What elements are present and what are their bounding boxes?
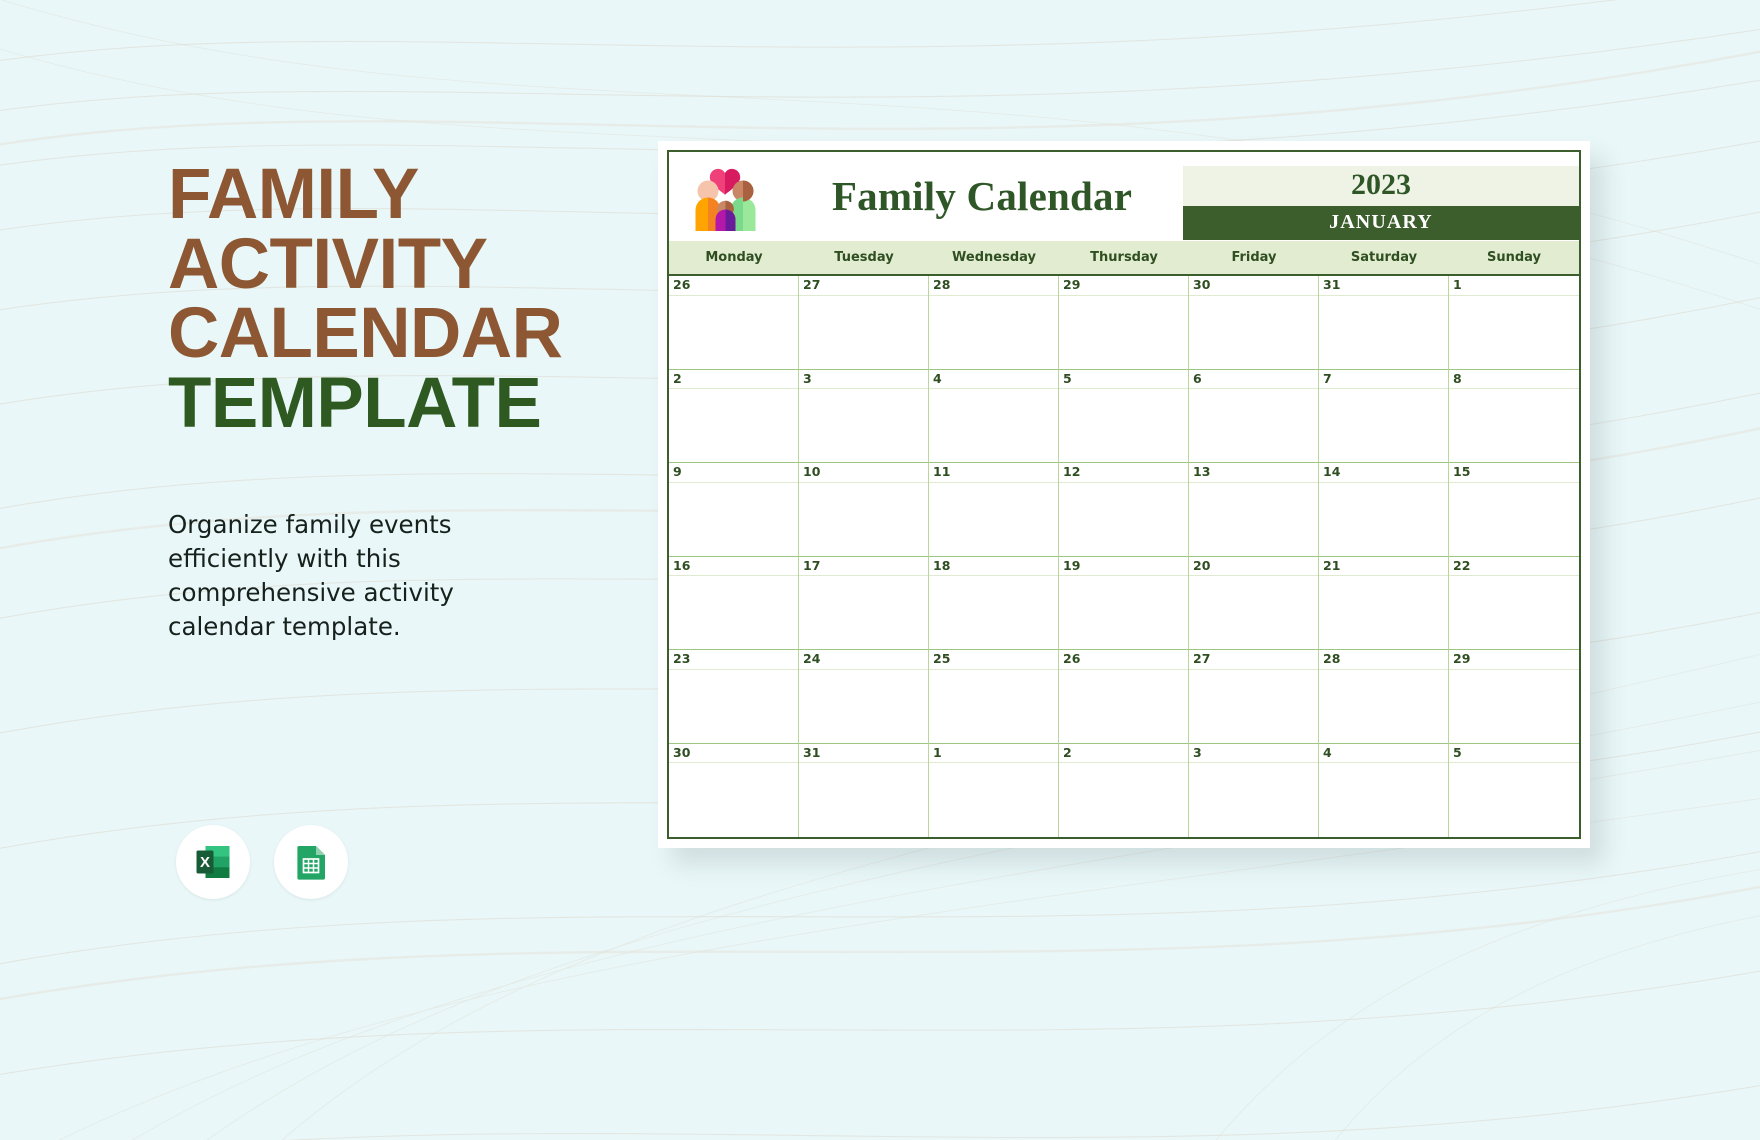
day-number: 30 xyxy=(669,744,798,764)
day-number: 13 xyxy=(1189,463,1318,483)
day-events-area[interactable] xyxy=(1449,763,1579,837)
day-number: 7 xyxy=(1319,370,1448,390)
calendar-header: Family Calendar 2023 JANUARY xyxy=(669,152,1579,240)
day-cell[interactable]: 14 xyxy=(1319,463,1449,557)
promo-description: Organize family events efficiently with … xyxy=(168,508,568,643)
day-number: 4 xyxy=(929,370,1058,390)
calendar-card: Family Calendar 2023 JANUARY Monday Tues… xyxy=(658,141,1590,848)
day-events-area[interactable] xyxy=(1319,296,1448,369)
day-events-area[interactable] xyxy=(1059,576,1188,649)
day-number: 6 xyxy=(1189,370,1318,390)
weekday-saturday: Saturday xyxy=(1319,241,1449,274)
day-events-area[interactable] xyxy=(1189,670,1318,743)
day-events-area[interactable] xyxy=(1319,763,1448,837)
day-cell[interactable]: 5 xyxy=(1449,744,1579,838)
google-sheets-badge[interactable] xyxy=(274,825,348,899)
day-events-area[interactable] xyxy=(1449,576,1579,649)
day-events-area[interactable] xyxy=(1059,296,1188,369)
day-cell[interactable]: 22 xyxy=(1449,557,1579,651)
day-cell[interactable]: 25 xyxy=(929,650,1059,744)
day-number: 1 xyxy=(929,744,1058,764)
day-number: 19 xyxy=(1059,557,1188,577)
day-number: 8 xyxy=(1449,370,1579,390)
day-cell[interactable]: 13 xyxy=(1189,463,1319,557)
day-cell[interactable]: 19 xyxy=(1059,557,1189,651)
day-number: 29 xyxy=(1059,276,1188,296)
day-cell[interactable]: 27 xyxy=(1189,650,1319,744)
day-number: 3 xyxy=(799,370,928,390)
day-cell[interactable]: 7 xyxy=(1319,370,1449,464)
title-line-3: CALENDAR xyxy=(168,299,628,369)
day-number: 10 xyxy=(799,463,928,483)
day-cell[interactable]: 31 xyxy=(799,744,929,838)
day-cell[interactable]: 29 xyxy=(1059,276,1189,370)
day-number: 15 xyxy=(1449,463,1579,483)
day-events-area[interactable] xyxy=(669,576,798,649)
google-sheets-icon xyxy=(290,841,332,883)
day-cell[interactable]: 5 xyxy=(1059,370,1189,464)
day-cell[interactable]: 2 xyxy=(1059,744,1189,838)
weekday-wednesday: Wednesday xyxy=(929,241,1059,274)
day-events-area[interactable] xyxy=(669,763,798,837)
calendar-weekday-row: Monday Tuesday Wednesday Thursday Friday… xyxy=(669,240,1579,274)
family-heart-icon xyxy=(683,160,767,232)
day-cell[interactable]: 4 xyxy=(1319,744,1449,838)
day-cell[interactable]: 3 xyxy=(1189,744,1319,838)
day-number: 27 xyxy=(799,276,928,296)
day-cell[interactable]: 2 xyxy=(669,370,799,464)
day-events-area[interactable] xyxy=(1449,389,1579,462)
calendar-title: Family Calendar xyxy=(832,172,1132,220)
day-cell[interactable]: 27 xyxy=(799,276,929,370)
day-number: 31 xyxy=(799,744,928,764)
day-events-area[interactable] xyxy=(799,670,928,743)
day-cell[interactable]: 1 xyxy=(929,744,1059,838)
day-cell[interactable]: 26 xyxy=(669,276,799,370)
calendar-period: 2023 JANUARY xyxy=(1183,152,1579,240)
day-cell[interactable]: 16 xyxy=(669,557,799,651)
day-cell[interactable]: 28 xyxy=(1319,650,1449,744)
day-cell[interactable]: 3 xyxy=(799,370,929,464)
day-number: 2 xyxy=(1059,744,1188,764)
day-cell[interactable]: 9 xyxy=(669,463,799,557)
day-cell[interactable]: 29 xyxy=(1449,650,1579,744)
day-events-area[interactable] xyxy=(1059,670,1188,743)
svg-text:X: X xyxy=(200,854,210,871)
day-cell[interactable]: 18 xyxy=(929,557,1059,651)
day-number: 3 xyxy=(1189,744,1318,764)
day-number: 30 xyxy=(1189,276,1318,296)
family-logo xyxy=(669,152,781,240)
day-events-area[interactable] xyxy=(1449,296,1579,369)
day-events-area[interactable] xyxy=(1059,389,1188,462)
day-cell[interactable]: 26 xyxy=(1059,650,1189,744)
day-number: 17 xyxy=(799,557,928,577)
page-title: FAMILY ACTIVITY CALENDAR TEMPLATE xyxy=(168,160,628,438)
day-cell[interactable]: 17 xyxy=(799,557,929,651)
title-line-2: ACTIVITY xyxy=(168,230,628,300)
day-events-area[interactable] xyxy=(1319,670,1448,743)
day-events-area[interactable] xyxy=(799,763,928,837)
day-events-area[interactable] xyxy=(1059,763,1188,837)
day-cell[interactable]: 10 xyxy=(799,463,929,557)
day-events-area[interactable] xyxy=(1319,576,1448,649)
day-number: 25 xyxy=(929,650,1058,670)
day-number: 28 xyxy=(929,276,1058,296)
day-cell[interactable]: 23 xyxy=(669,650,799,744)
day-number: 31 xyxy=(1319,276,1448,296)
day-events-area[interactable] xyxy=(1319,483,1448,556)
day-cell[interactable]: 6 xyxy=(1189,370,1319,464)
day-cell[interactable]: 20 xyxy=(1189,557,1319,651)
day-events-area[interactable] xyxy=(799,576,928,649)
weekday-tuesday: Tuesday xyxy=(799,241,929,274)
day-events-area[interactable] xyxy=(929,483,1058,556)
day-number: 29 xyxy=(1449,650,1579,670)
day-cell[interactable]: 31 xyxy=(1319,276,1449,370)
day-events-area[interactable] xyxy=(929,389,1058,462)
day-number: 2 xyxy=(669,370,798,390)
day-events-area[interactable] xyxy=(799,389,928,462)
day-number: 26 xyxy=(669,276,798,296)
day-number: 14 xyxy=(1319,463,1448,483)
day-cell[interactable]: 24 xyxy=(799,650,929,744)
day-cell[interactable]: 1 xyxy=(1449,276,1579,370)
day-cell[interactable]: 15 xyxy=(1449,463,1579,557)
calendar-year[interactable]: 2023 xyxy=(1183,166,1579,206)
day-number: 12 xyxy=(1059,463,1188,483)
weekday-sunday: Sunday xyxy=(1449,241,1579,274)
calendar-sheet: Family Calendar 2023 JANUARY Monday Tues… xyxy=(667,150,1581,839)
day-events-area[interactable] xyxy=(669,483,798,556)
format-badges: X xyxy=(176,825,348,899)
day-number: 18 xyxy=(929,557,1058,577)
day-number: 4 xyxy=(1319,744,1448,764)
day-events-area[interactable] xyxy=(669,670,798,743)
day-events-area[interactable] xyxy=(669,389,798,462)
day-number: 5 xyxy=(1059,370,1188,390)
calendar-title-wrap: Family Calendar xyxy=(781,152,1183,240)
day-cell[interactable]: 11 xyxy=(929,463,1059,557)
day-events-area[interactable] xyxy=(1189,576,1318,649)
day-cell[interactable]: 30 xyxy=(669,744,799,838)
calendar-grid: 2627282930311234567891011121314151617181… xyxy=(669,274,1579,837)
day-events-area[interactable] xyxy=(799,483,928,556)
day-events-area[interactable] xyxy=(1059,483,1188,556)
day-number: 28 xyxy=(1319,650,1448,670)
excel-icon: X xyxy=(192,841,234,883)
title-line-1: FAMILY xyxy=(168,160,628,230)
day-events-area[interactable] xyxy=(1189,483,1318,556)
day-cell[interactable]: 4 xyxy=(929,370,1059,464)
day-events-area[interactable] xyxy=(669,296,798,369)
promo-panel: FAMILY ACTIVITY CALENDAR TEMPLATE Organi… xyxy=(168,160,628,644)
day-cell[interactable]: 28 xyxy=(929,276,1059,370)
day-events-area[interactable] xyxy=(1189,389,1318,462)
excel-badge[interactable]: X xyxy=(176,825,250,899)
day-cell[interactable]: 12 xyxy=(1059,463,1189,557)
day-number: 1 xyxy=(1449,276,1579,296)
day-number: 21 xyxy=(1319,557,1448,577)
day-number: 11 xyxy=(929,463,1058,483)
day-number: 20 xyxy=(1189,557,1318,577)
day-events-area[interactable] xyxy=(1449,670,1579,743)
day-number: 22 xyxy=(1449,557,1579,577)
title-line-4: TEMPLATE xyxy=(168,369,628,439)
day-events-area[interactable] xyxy=(799,296,928,369)
day-cell[interactable]: 8 xyxy=(1449,370,1579,464)
day-events-area[interactable] xyxy=(1189,763,1318,837)
weekday-friday: Friday xyxy=(1189,241,1319,274)
day-events-area[interactable] xyxy=(929,763,1058,837)
day-cell[interactable]: 21 xyxy=(1319,557,1449,651)
day-number: 16 xyxy=(669,557,798,577)
day-events-area[interactable] xyxy=(1189,296,1318,369)
day-events-area[interactable] xyxy=(929,576,1058,649)
calendar-month[interactable]: JANUARY xyxy=(1183,206,1579,240)
weekday-thursday: Thursday xyxy=(1059,241,1189,274)
day-number: 26 xyxy=(1059,650,1188,670)
day-events-area[interactable] xyxy=(1319,389,1448,462)
day-events-area[interactable] xyxy=(1449,483,1579,556)
day-number: 27 xyxy=(1189,650,1318,670)
day-number: 5 xyxy=(1449,744,1579,764)
weekday-monday: Monday xyxy=(669,241,799,274)
day-events-area[interactable] xyxy=(929,296,1058,369)
day-number: 24 xyxy=(799,650,928,670)
day-events-area[interactable] xyxy=(929,670,1058,743)
day-cell[interactable]: 30 xyxy=(1189,276,1319,370)
day-number: 9 xyxy=(669,463,798,483)
day-number: 23 xyxy=(669,650,798,670)
